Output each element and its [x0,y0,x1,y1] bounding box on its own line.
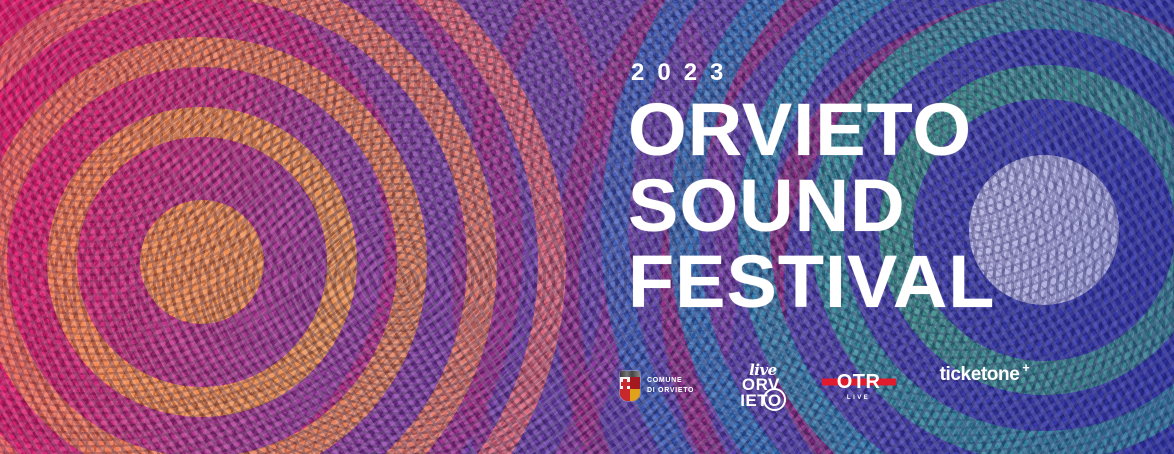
title-line-festival: FESTIVAL [628,244,995,320]
comune-label-line2: DI ORVIETO [647,386,694,396]
crest-quarter [630,377,640,389]
poster-content: 2023 ORVIETO SOUND FESTIVAL COMUNE [0,0,1174,454]
ticketone-plus-icon: + [1022,361,1029,374]
sponsor-comune-di-orvieto[interactable]: COMUNE DI ORVIETO [620,364,694,408]
ticketone-text: ticketone [940,364,1020,385]
otr-letters: OTR [833,372,885,392]
orvieto-sound-festival-poster: 2023 ORVIETO SOUND FESTIVAL COMUNE [0,0,1174,454]
festival-title: ORVIETO SOUND FESTIVAL [628,92,988,320]
sponsor-logo-row: COMUNE DI ORVIETO live ORV IETO OTR [612,362,1012,410]
festival-year: 2023 [631,61,736,85]
title-line-orvieto: ORVIETO [628,92,995,168]
comune-label: COMUNE DI ORVIETO [647,376,694,396]
sponsor-ticketone[interactable]: ticketone + [940,364,1020,408]
sponsor-otr-live[interactable]: OTR LIVE [822,364,896,408]
crest-quarter [620,389,630,401]
otr-wordmark: OTR [822,371,896,393]
title-line-sound: SOUND [628,168,995,244]
circle-ring-icon [763,388,786,411]
coat-of-arms-icon [620,371,640,401]
crest-quarter [630,389,640,401]
live-orvieto-line2: IETO [740,393,781,409]
crest-cross [621,382,630,386]
comune-label-line1: COMUNE [647,376,694,386]
otr-sub-label: LIVE [847,395,870,401]
ticketone-wordmark: ticketone + [940,364,1020,386]
sponsor-live-orvieto[interactable]: live ORV IETO [740,364,781,408]
